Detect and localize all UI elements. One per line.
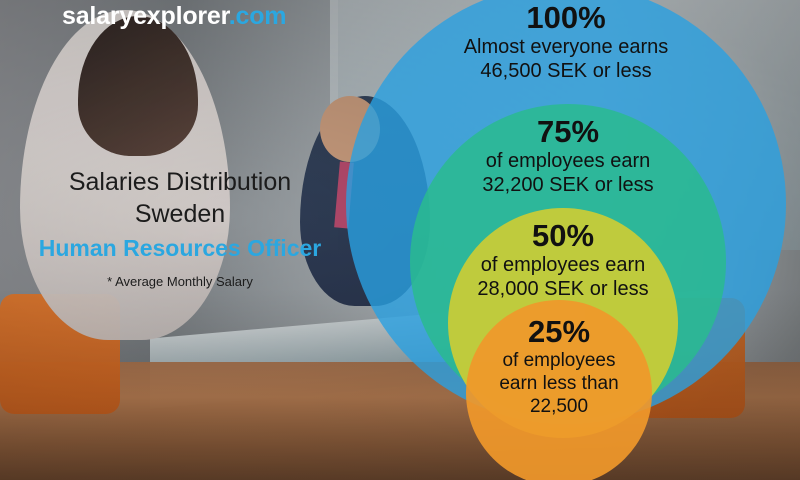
bubble-75-percent-label: 75%: [410, 116, 726, 149]
bubble-100-text: 100% Almost everyone earns 46,500 SEK or…: [346, 2, 786, 84]
bubble-100-line1: Almost everyone earns: [346, 35, 786, 59]
bubble-50-text: 50% of employees earn 28,000 SEK or less: [448, 220, 678, 302]
bubble-50-line2: 28,000 SEK or less: [448, 277, 678, 301]
bubble-75-line2: 32,200 SEK or less: [410, 173, 726, 197]
bubble-25-line2: earn less than: [466, 372, 652, 395]
bubble-25-line3: 22,500: [466, 395, 652, 418]
bubble-75-line1: of employees earn: [410, 149, 726, 173]
bubble-25-text: 25% of employees earn less than 22,500: [466, 316, 652, 418]
bubble-50-percent-label: 50%: [448, 220, 678, 253]
bubble-75-text: 75% of employees earn 32,200 SEK or less: [410, 116, 726, 198]
bubble-50-line1: of employees earn: [448, 253, 678, 277]
bubble-100-percent-label: 100%: [346, 2, 786, 35]
bubble-25-percent: 25% of employees earn less than 22,500: [466, 300, 652, 480]
salary-distribution-infographic: salaryexplorer.com Salaries Distribution…: [0, 0, 800, 480]
bubble-100-line2: 46,500 SEK or less: [346, 59, 786, 83]
bubble-25-percent-label: 25%: [466, 316, 652, 349]
percentile-bubble-chart: 100% Almost everyone earns 46,500 SEK or…: [0, 0, 800, 480]
bubble-25-line1: of employees: [466, 349, 652, 372]
